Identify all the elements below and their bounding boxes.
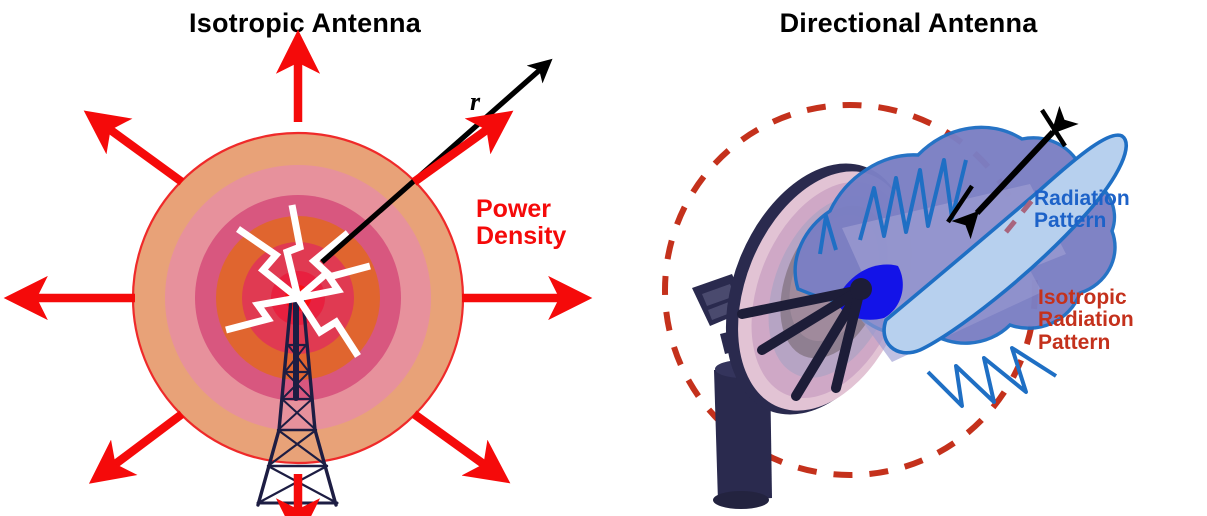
- arrow-sw: [110, 414, 182, 468]
- arrow-se: [414, 414, 489, 468]
- radiation-pattern-label: Radiation Pattern: [1034, 188, 1130, 233]
- arrow-ne: [414, 126, 492, 182]
- diagram-canvas: Isotropic Antenna: [0, 0, 1207, 516]
- radius-label: r: [470, 88, 480, 116]
- feed-horn-icon: [850, 278, 872, 300]
- panel-directional-antenna: Directional Antenna: [610, 0, 1207, 516]
- isotropic-radiation-pattern-label: Isotropic Radiation Pattern: [1038, 287, 1134, 354]
- arrow-nw: [105, 126, 182, 182]
- panel-isotropic-antenna: Isotropic Antenna: [0, 0, 610, 516]
- power-density-label: Power Density: [476, 196, 566, 249]
- directional-antenna-illustration: [610, 0, 1207, 516]
- isotropic-antenna-illustration: [0, 0, 610, 516]
